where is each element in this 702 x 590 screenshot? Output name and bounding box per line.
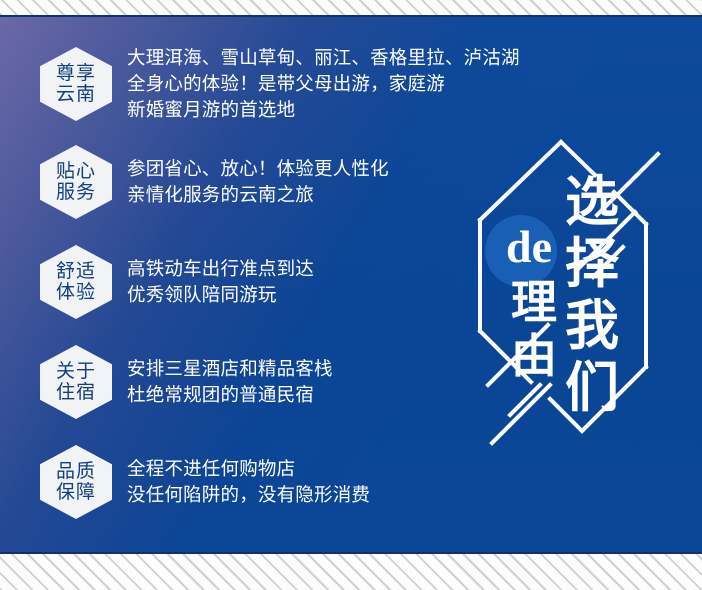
- badge-line: 尊享: [56, 63, 96, 84]
- feature-description: 大理洱海、雪山草甸、丽江、香格里拉、泸沽湖 全身心的体验！是带父母出游，家庭游 …: [127, 45, 520, 123]
- bottom-stripe-band: [0, 554, 702, 590]
- feature-row: 品质 保障 全程不进任何购物店 没任何陷阱的，没有隐形消费: [40, 445, 370, 519]
- description-line: 亲情化服务的云南之旅: [127, 182, 389, 208]
- description-line: 没任何陷阱的，没有隐形消费: [127, 482, 370, 508]
- badge-line: 保障: [56, 482, 96, 503]
- badge-line: 品质: [56, 461, 96, 482]
- feature-badge-hexagon: 舒适 体验: [40, 245, 112, 319]
- feature-badge-hexagon: 品质 保障: [40, 445, 112, 519]
- description-line: 全程不进任何购物店: [127, 456, 370, 482]
- badge-line: 服务: [56, 182, 96, 203]
- feature-description: 高铁动车出行准点到达 优秀领队陪同游玩: [127, 256, 314, 308]
- feature-row: 贴心 服务 参团省心、放心！体验更人性化 亲情化服务的云南之旅: [40, 145, 389, 219]
- feature-description: 安排三星酒店和精品客栈 杜绝常规团的普通民宿: [127, 356, 333, 408]
- description-line: 新婚蜜月游的首选地: [127, 97, 520, 123]
- badge-line: 云南: [56, 84, 96, 105]
- badge-line: 贴心: [56, 161, 96, 182]
- feature-row: 关于 住宿 安排三星酒店和精品客栈 杜绝常规团的普通民宿: [40, 345, 333, 419]
- feature-badge-hexagon: 关于 住宿: [40, 345, 112, 419]
- description-line: 优秀领队陪同游玩: [127, 282, 314, 308]
- description-line: 安排三星酒店和精品客栈: [127, 356, 333, 382]
- feature-description: 参团省心、放心！体验更人性化 亲情化服务的云南之旅: [127, 156, 389, 208]
- feature-row: 尊享 云南 大理洱海、雪山草甸、丽江、香格里拉、泸沽湖 全身心的体验！是带父母出…: [40, 45, 520, 123]
- description-line: 大理洱海、雪山草甸、丽江、香格里拉、泸沽湖: [127, 45, 520, 71]
- description-line: 全身心的体验！是带父母出游，家庭游: [127, 71, 520, 97]
- feature-row: 舒适 体验 高铁动车出行准点到达 优秀领队陪同游玩: [40, 245, 314, 319]
- description-line: 高铁动车出行准点到达: [127, 256, 314, 282]
- description-line: 参团省心、放心！体验更人性化: [127, 156, 389, 182]
- feature-badge-hexagon: 贴心 服务: [40, 145, 112, 219]
- feature-description: 全程不进任何购物店 没任何陷阱的，没有隐形消费: [127, 456, 370, 508]
- feature-badge-hexagon: 尊享 云南: [40, 47, 112, 121]
- description-line: 杜绝常规团的普通民宿: [127, 382, 333, 408]
- feature-row-list: 尊享 云南 大理洱海、雪山草甸、丽江、香格里拉、泸沽湖 全身心的体验！是带父母出…: [0, 17, 702, 552]
- badge-line: 住宿: [56, 382, 96, 403]
- top-stripe-band: [0, 0, 702, 15]
- badge-line: 关于: [56, 361, 96, 382]
- poster-canvas: de 理由 选择我们 尊享 云南 大理洱海、雪山草甸、丽江、香格里拉、泸沽湖 全…: [0, 0, 702, 590]
- badge-line: 体验: [56, 282, 96, 303]
- badge-line: 舒适: [56, 261, 96, 282]
